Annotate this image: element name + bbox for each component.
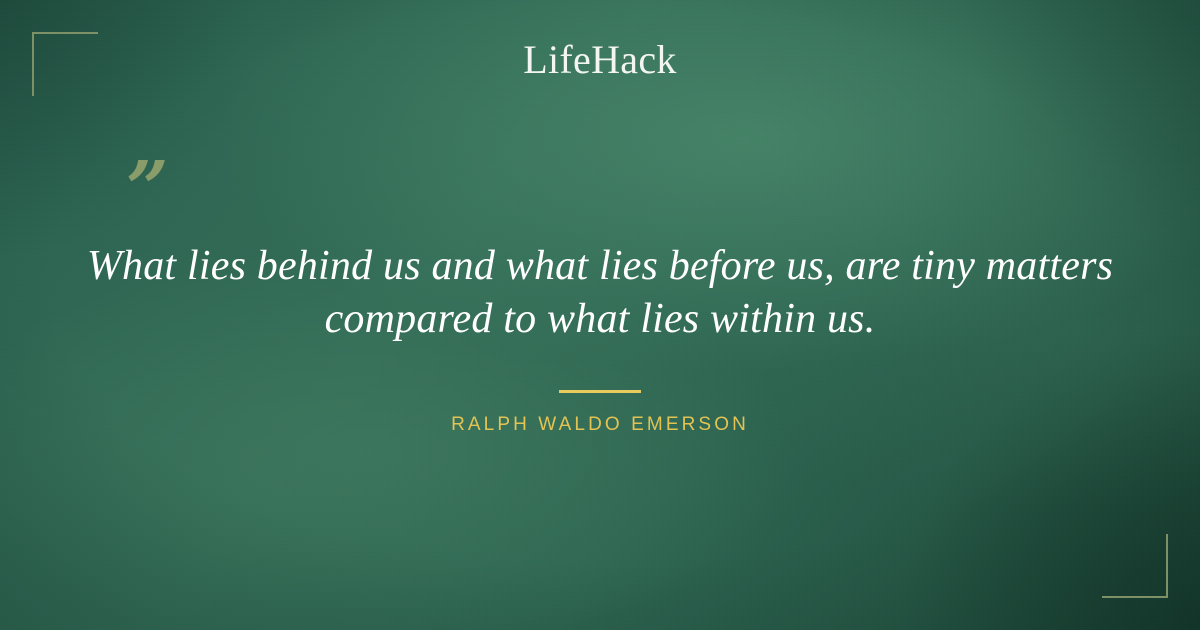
gold-divider-rule: [559, 390, 641, 393]
quotation-mark-icon: ”: [126, 152, 169, 226]
lifehack-logo: LifeHack: [0, 38, 1200, 82]
quote-card: LifeHack ” What lies behind us and what …: [0, 0, 1200, 630]
quote-line-1: What lies behind us and what lies before…: [80, 240, 1120, 293]
divider-container: [0, 380, 1200, 398]
quote-line-2: compared to what lies within us.: [80, 293, 1120, 346]
corner-bracket-bottom-right: [1102, 534, 1168, 598]
quote-author: RALPH WALDO EMERSON: [0, 413, 1200, 437]
quote-text-block: What lies behind us and what lies before…: [80, 240, 1120, 346]
